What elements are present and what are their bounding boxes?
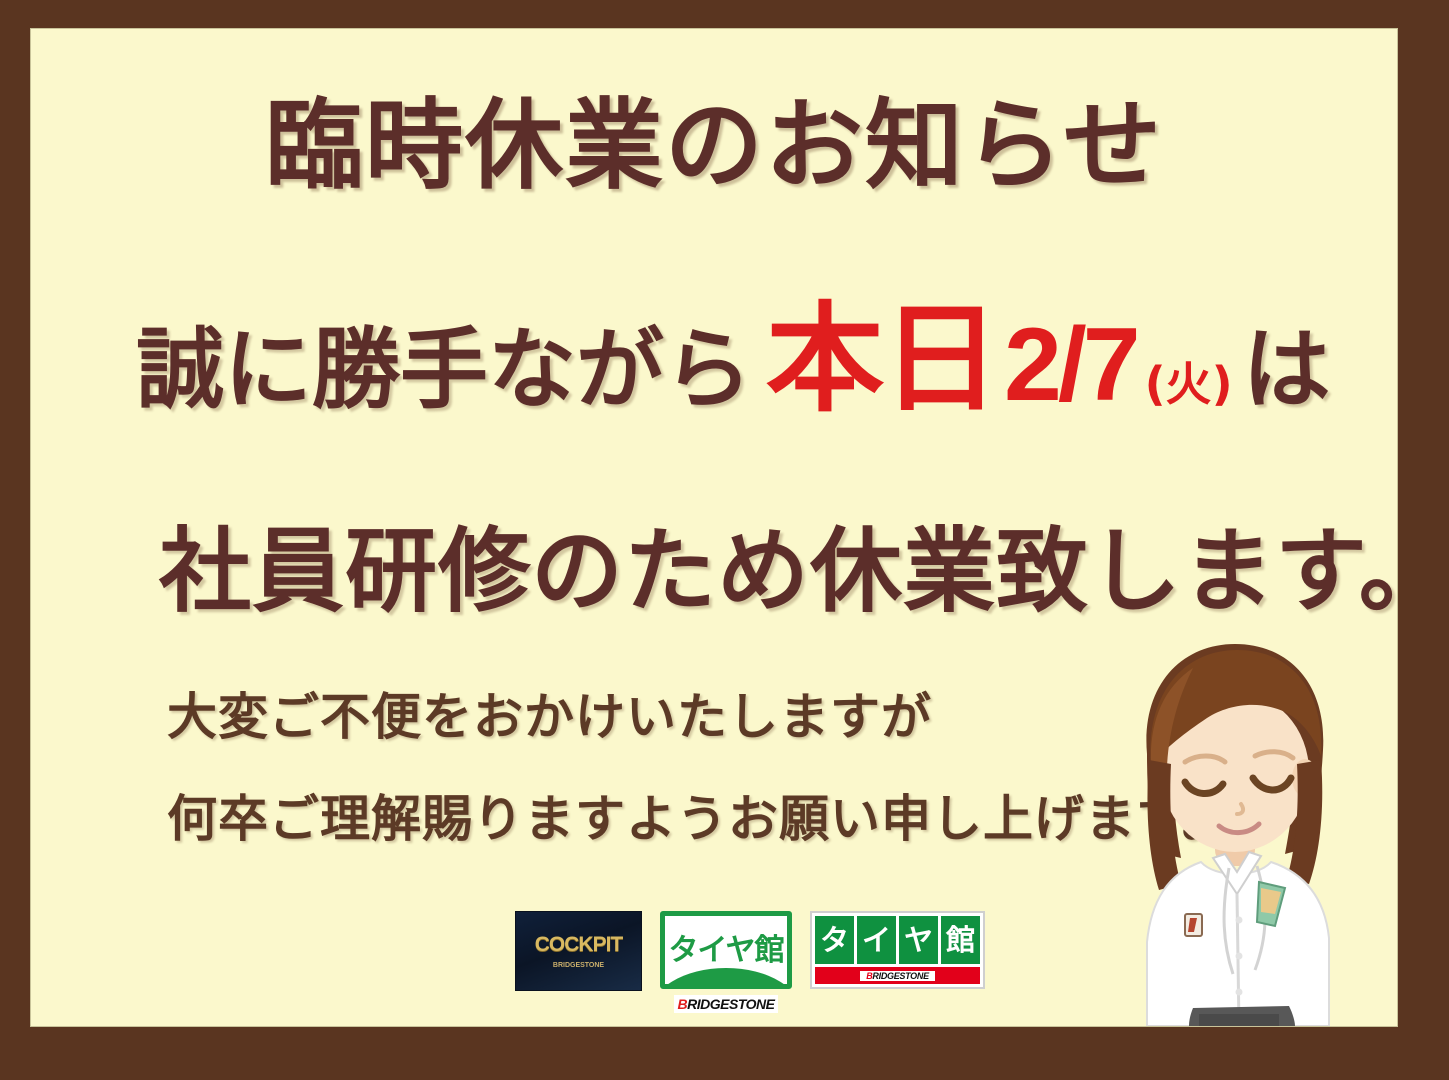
tireland-green-band: BRIDGESTONE <box>815 967 980 984</box>
apology-line-1: 大変ご不便をおかけいたしますが <box>167 677 1233 749</box>
notice-panel: 臨時休業のお知らせ 誠に勝手ながら 本日 2/7 (火) は 社員研修のため休業… <box>31 29 1397 1026</box>
tireland-green-char-3: ヤ <box>899 916 938 964</box>
notice-poster: 臨時休業のお知らせ 誠に勝手ながら 本日 2/7 (火) は 社員研修のため休業… <box>0 0 1449 1080</box>
closure-weekday: (火) <box>1145 348 1233 414</box>
closure-date-line: 誠に勝手ながら 本日 2/7 (火) は <box>136 299 1376 426</box>
tireland-green-logo: タ イ ヤ 館 BRIDGESTONE <box>810 911 985 989</box>
tireland-white-wordmark: タイヤ館 <box>668 925 783 969</box>
bridgestone-initial: B <box>678 996 688 1012</box>
today-label: 本日 <box>766 303 998 415</box>
cockpit-wordmark: COCKPIT <box>535 933 623 957</box>
closure-reason: 社員研修のため休業致します。 <box>159 497 1397 630</box>
tireland-green-char-4: 館 <box>941 916 980 964</box>
bridgestone-rest: RIDGESTONE <box>687 996 774 1012</box>
bridgestone-rest: RIDGESTONE <box>872 971 928 981</box>
bowing-staff-illustration <box>1089 626 1379 1026</box>
cockpit-logo: COCKPIT BRIDGESTONE <box>515 911 642 991</box>
apology-block: 大変ご不便をおかけいたしますが 何卒ご理解賜りますようお願い申し上げます。 <box>167 677 1233 881</box>
closure-date: 2/7 <box>1004 306 1137 425</box>
tireland-green-characters: タ イ ヤ 館 <box>815 916 980 964</box>
bridgestone-wordmark: BRIDGESTONE <box>674 995 779 1013</box>
tireland-white-logo: タイヤ館 BRIDGESTONE <box>660 911 792 1013</box>
apology-lead-text: 誠に勝手ながら <box>136 299 752 426</box>
topic-particle: は <box>1243 299 1331 426</box>
apology-line-2: 何卒ご理解賜りますようお願い申し上げます。 <box>167 779 1233 851</box>
tireland-green-bridgestone-wordmark: BRIDGESTONE <box>860 971 935 981</box>
cockpit-bridgestone-subtext: BRIDGESTONE <box>553 962 604 969</box>
tireland-white-badge: タイヤ館 <box>660 911 792 989</box>
tireland-green-char-2: イ <box>857 916 896 964</box>
page-title: 臨時休業のお知らせ <box>31 97 1397 195</box>
brand-logo-row: COCKPIT BRIDGESTONE タイヤ館 BRIDGESTONE タ イ… <box>515 911 985 1013</box>
tireland-green-char-1: タ <box>815 916 854 964</box>
